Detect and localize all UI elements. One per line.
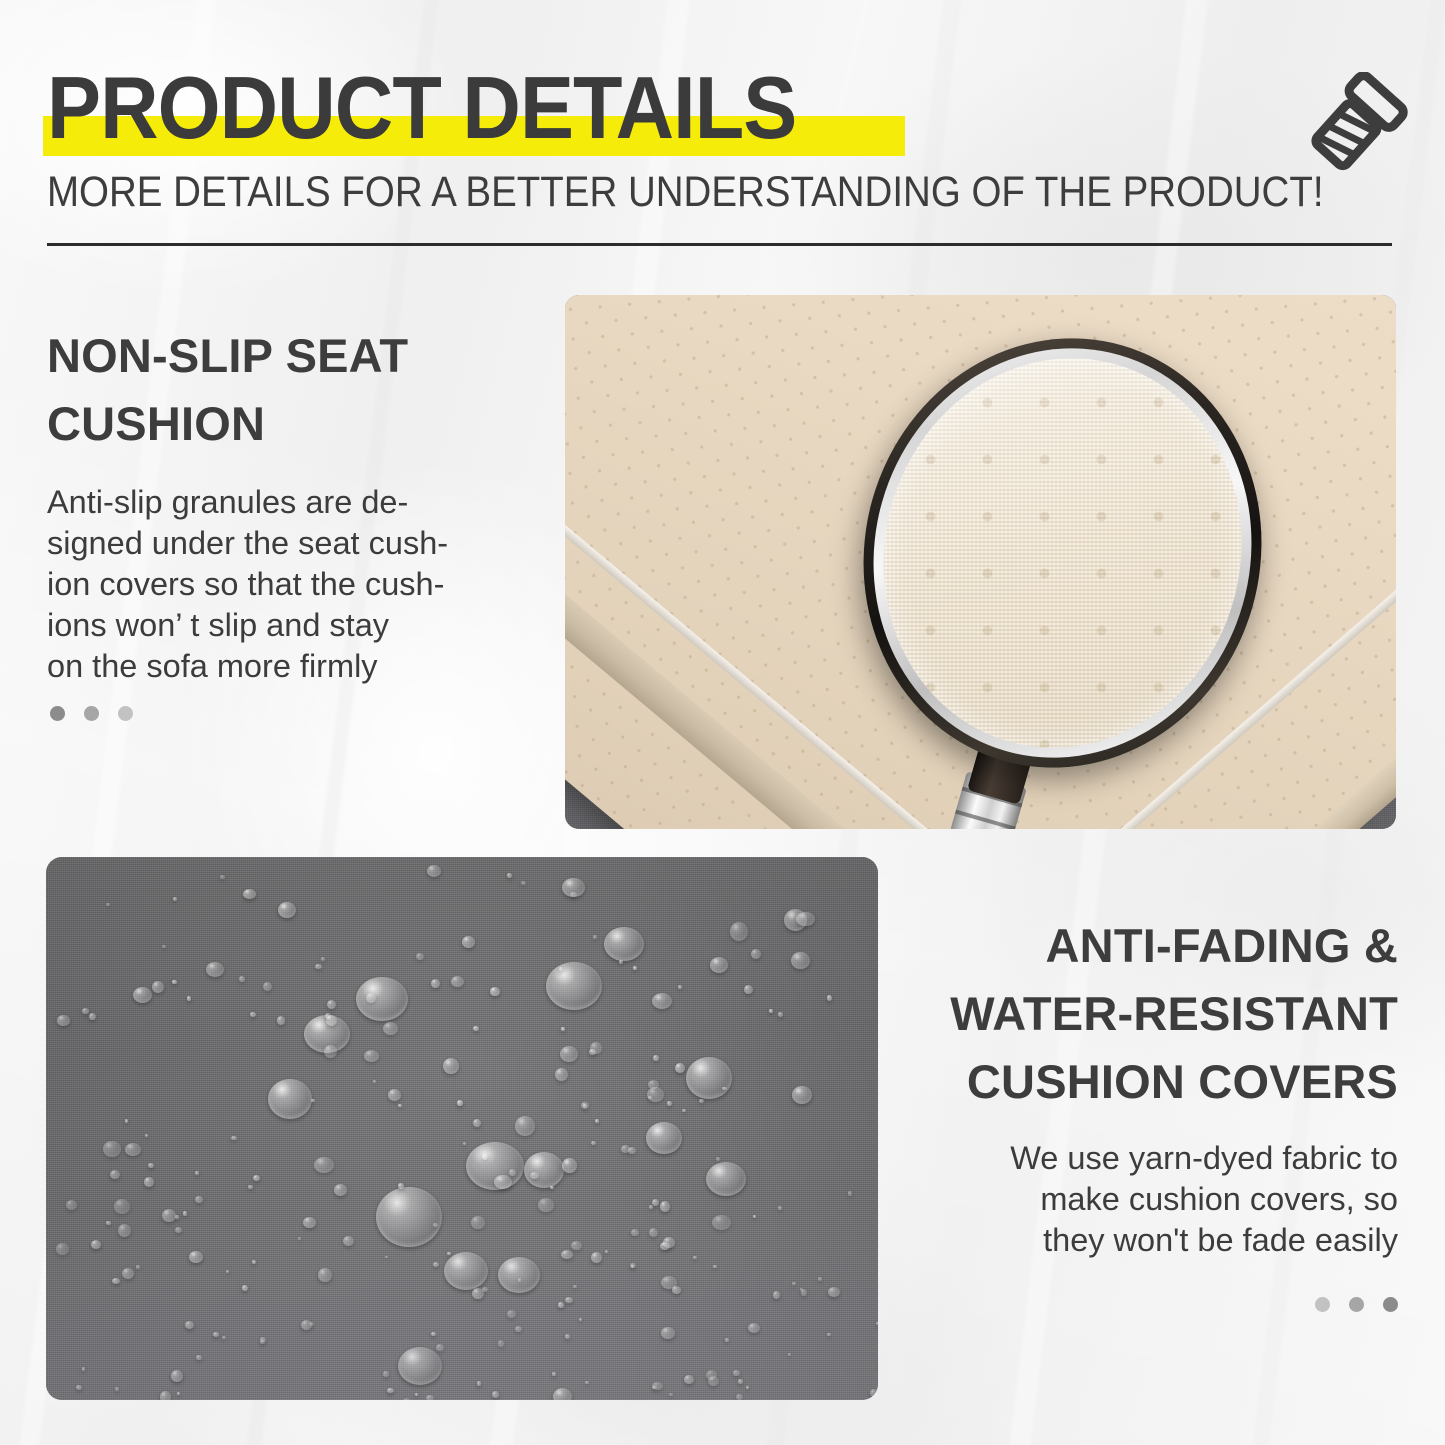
cushion-magnifier-photo (565, 295, 1396, 829)
screw-icon (1305, 72, 1415, 176)
body-line: ion covers so that the cush- (47, 566, 444, 602)
heading-line: ANTI-FADING & (1046, 919, 1398, 972)
section-anti-fading-text: ANTI-FADING & WATER-RESISTANT CUSHION CO… (868, 912, 1398, 1261)
product-details-infographic: PRODUCT DETAILS MORE DETAILS FOR A BETTE… (0, 0, 1445, 1445)
title-wrap: PRODUCT DETAILS (47, 60, 861, 156)
dot (1349, 1297, 1364, 1312)
dot (118, 706, 133, 721)
photo-vignette (46, 857, 878, 1400)
decorative-dots-right (1315, 1297, 1398, 1312)
body-line: make cushion covers, so (1040, 1181, 1398, 1217)
body-line: on the sofa more firmly (47, 648, 378, 684)
dot (50, 706, 65, 721)
dot (1315, 1297, 1330, 1312)
section-non-slip-body: Anti-slip granules are de- signed under … (47, 482, 527, 687)
body-line: Anti-slip granules are de- (47, 484, 408, 520)
section-non-slip-text: NON-SLIP SEAT CUSHION Anti-slip granules… (47, 322, 527, 687)
body-line: they won't be fade easily (1043, 1222, 1398, 1258)
page-subtitle: MORE DETAILS FOR A BETTER UNDERSTANDING … (47, 168, 1256, 216)
section-non-slip-heading-text: NON-SLIP SEAT CUSHION (47, 329, 408, 450)
body-line: signed under the seat cush- (47, 525, 448, 561)
water-droplets-photo (46, 857, 878, 1400)
heading-line: WATER-RESISTANT (950, 987, 1398, 1040)
heading-line: CUSHION COVERS (967, 1055, 1398, 1108)
page-title: PRODUCT DETAILS (47, 60, 796, 156)
decorative-dots-left (50, 706, 133, 721)
body-line: ions won’ t slip and stay (47, 607, 389, 643)
header-divider (47, 243, 1392, 246)
header: PRODUCT DETAILS MORE DETAILS FOR A BETTE… (47, 60, 1398, 216)
section-anti-fading-heading: ANTI-FADING & WATER-RESISTANT CUSHION CO… (868, 912, 1398, 1116)
body-line: We use yarn-dyed fabric to (1010, 1140, 1398, 1176)
magnifier-lens (838, 316, 1287, 791)
section-non-slip-heading: NON-SLIP SEAT CUSHION (47, 322, 527, 458)
dot (84, 706, 99, 721)
section-anti-fading-body: We use yarn-dyed fabric to make cushion … (868, 1138, 1398, 1261)
dot (1383, 1297, 1398, 1312)
